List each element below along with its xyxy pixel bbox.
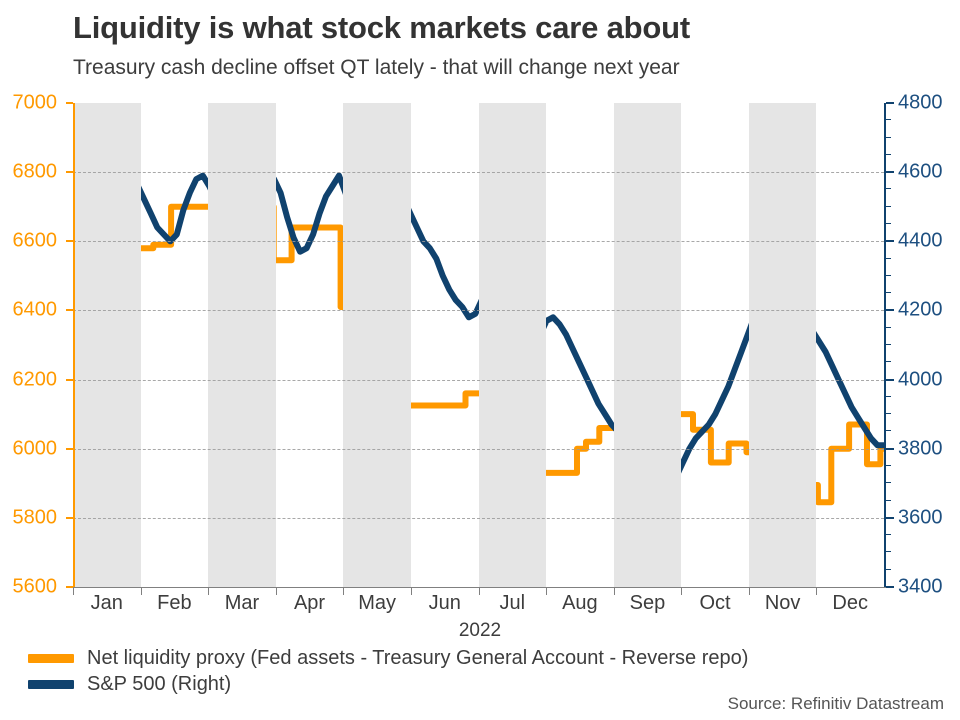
- right-axis-tick: [886, 517, 894, 519]
- month-band: [614, 103, 682, 587]
- right-axis-tick-label: 4800: [898, 92, 943, 115]
- left-axis-tick-label: 6000: [13, 437, 58, 460]
- right-axis-minor-tick: [886, 206, 891, 207]
- left-axis-tick-label: 5600: [13, 576, 58, 599]
- x-axis-tick-label: Sep: [630, 592, 666, 615]
- month-band: [343, 103, 411, 587]
- x-axis-tick: [614, 587, 615, 595]
- x-axis-tick-label: Feb: [157, 592, 191, 615]
- chart-subtitle: Treasury cash decline offset QT lately -…: [73, 56, 953, 80]
- right-axis-line: [884, 103, 886, 588]
- gridline: [73, 380, 884, 381]
- right-axis-minor-tick: [886, 361, 891, 362]
- legend-swatch-sp500: [28, 680, 74, 689]
- right-axis-minor-tick: [886, 534, 891, 535]
- left-axis-tick: [66, 586, 73, 588]
- left-axis-tick: [66, 171, 73, 173]
- x-axis-tick: [208, 587, 209, 595]
- month-band: [73, 103, 141, 587]
- legend: Net liquidity proxy (Fed assets - Treasu…: [28, 645, 748, 697]
- x-axis-tick: [276, 587, 277, 595]
- right-axis-minor-tick: [886, 551, 891, 552]
- right-axis-tick: [886, 240, 894, 242]
- right-axis-minor-tick: [886, 569, 891, 570]
- right-axis-minor-tick: [886, 137, 891, 138]
- left-axis-tick: [66, 102, 73, 104]
- right-axis-minor-tick: [886, 258, 891, 259]
- x-axis-line: [73, 587, 886, 588]
- right-axis-minor-tick: [886, 223, 891, 224]
- x-axis-tick-label: May: [358, 592, 396, 615]
- right-axis-minor-tick: [886, 482, 891, 483]
- right-axis-minor-tick: [886, 119, 891, 120]
- x-axis-tick-label: Jul: [499, 592, 525, 615]
- right-axis-minor-tick: [886, 275, 891, 276]
- right-axis-minor-tick: [886, 430, 891, 431]
- left-axis-line: [73, 103, 75, 588]
- month-band: [208, 103, 276, 587]
- left-axis-tick: [66, 379, 73, 381]
- gridline: [73, 449, 884, 450]
- x-axis-tick-label: Mar: [225, 592, 259, 615]
- left-axis-tick-label: 5800: [13, 506, 58, 529]
- right-axis-tick: [886, 309, 894, 311]
- legend-label-net-liquidity-proxy: Net liquidity proxy (Fed assets - Treasu…: [87, 647, 748, 670]
- x-axis-tick: [479, 587, 480, 595]
- right-axis-tick: [886, 102, 894, 104]
- gridline: [73, 241, 884, 242]
- right-axis-minor-tick: [886, 500, 891, 501]
- right-axis-tick-label: 3600: [898, 506, 943, 529]
- gridline: [73, 172, 884, 173]
- chart-title: Liquidity is what stock markets care abo…: [73, 10, 943, 46]
- month-band: [479, 103, 547, 587]
- left-axis-tick-label: 7000: [13, 92, 58, 115]
- left-axis-tick-label: 6600: [13, 230, 58, 253]
- left-axis-tick-label: 6200: [13, 368, 58, 391]
- x-axis-tick-label: Nov: [765, 592, 801, 615]
- gridline: [73, 518, 884, 519]
- x-axis-tick: [546, 587, 547, 595]
- legend-swatch-net-liquidity-proxy: [28, 654, 74, 663]
- right-axis-minor-tick: [886, 327, 891, 328]
- x-axis-tick-label: Oct: [699, 592, 730, 615]
- plot-area: [73, 103, 884, 587]
- left-axis-tick: [66, 240, 73, 242]
- gridline: [73, 310, 884, 311]
- right-axis-tick: [886, 171, 894, 173]
- x-axis-tick-label: Dec: [832, 592, 868, 615]
- month-band: [749, 103, 817, 587]
- source-note: Source: Refinitiv Datastream: [728, 694, 944, 714]
- left-axis-tick: [66, 309, 73, 311]
- x-axis-tick: [411, 587, 412, 595]
- right-axis-tick-label: 3400: [898, 576, 943, 599]
- x-axis-tick-label: Apr: [294, 592, 325, 615]
- right-axis-tick-label: 3800: [898, 437, 943, 460]
- left-axis-tick: [66, 448, 73, 450]
- x-axis-tick-label: Aug: [562, 592, 598, 615]
- right-axis-minor-tick: [886, 465, 891, 466]
- left-axis-tick: [66, 517, 73, 519]
- x-axis-title: 2022: [0, 620, 960, 642]
- right-axis-minor-tick: [886, 396, 891, 397]
- right-axis-minor-tick: [886, 344, 891, 345]
- x-axis-tick: [141, 587, 142, 595]
- right-axis-tick: [886, 448, 894, 450]
- legend-item-net-liquidity-proxy: Net liquidity proxy (Fed assets - Treasu…: [28, 645, 748, 671]
- right-axis-minor-tick: [886, 188, 891, 189]
- right-axis-tick: [886, 379, 894, 381]
- left-axis-tick-label: 6800: [13, 161, 58, 184]
- right-axis-tick-label: 4000: [898, 368, 943, 391]
- right-axis-minor-tick: [886, 292, 891, 293]
- right-axis-minor-tick: [886, 413, 891, 414]
- right-axis-tick-label: 4600: [898, 161, 943, 184]
- x-axis-tick-label: Jan: [91, 592, 123, 615]
- right-axis-tick-label: 4400: [898, 230, 943, 253]
- legend-label-sp500: S&P 500 (Right): [87, 673, 231, 696]
- right-axis-tick: [886, 586, 894, 588]
- right-axis-minor-tick: [886, 154, 891, 155]
- right-axis-tick-label: 4200: [898, 299, 943, 322]
- legend-item-sp500: S&P 500 (Right): [28, 671, 748, 697]
- x-axis-tick: [73, 587, 74, 595]
- x-axis-tick: [681, 587, 682, 595]
- x-axis-tick: [749, 587, 750, 595]
- x-axis-tick: [343, 587, 344, 595]
- left-axis-tick-label: 6400: [13, 299, 58, 322]
- x-axis-tick: [816, 587, 817, 595]
- x-axis-tick-label: Jun: [429, 592, 461, 615]
